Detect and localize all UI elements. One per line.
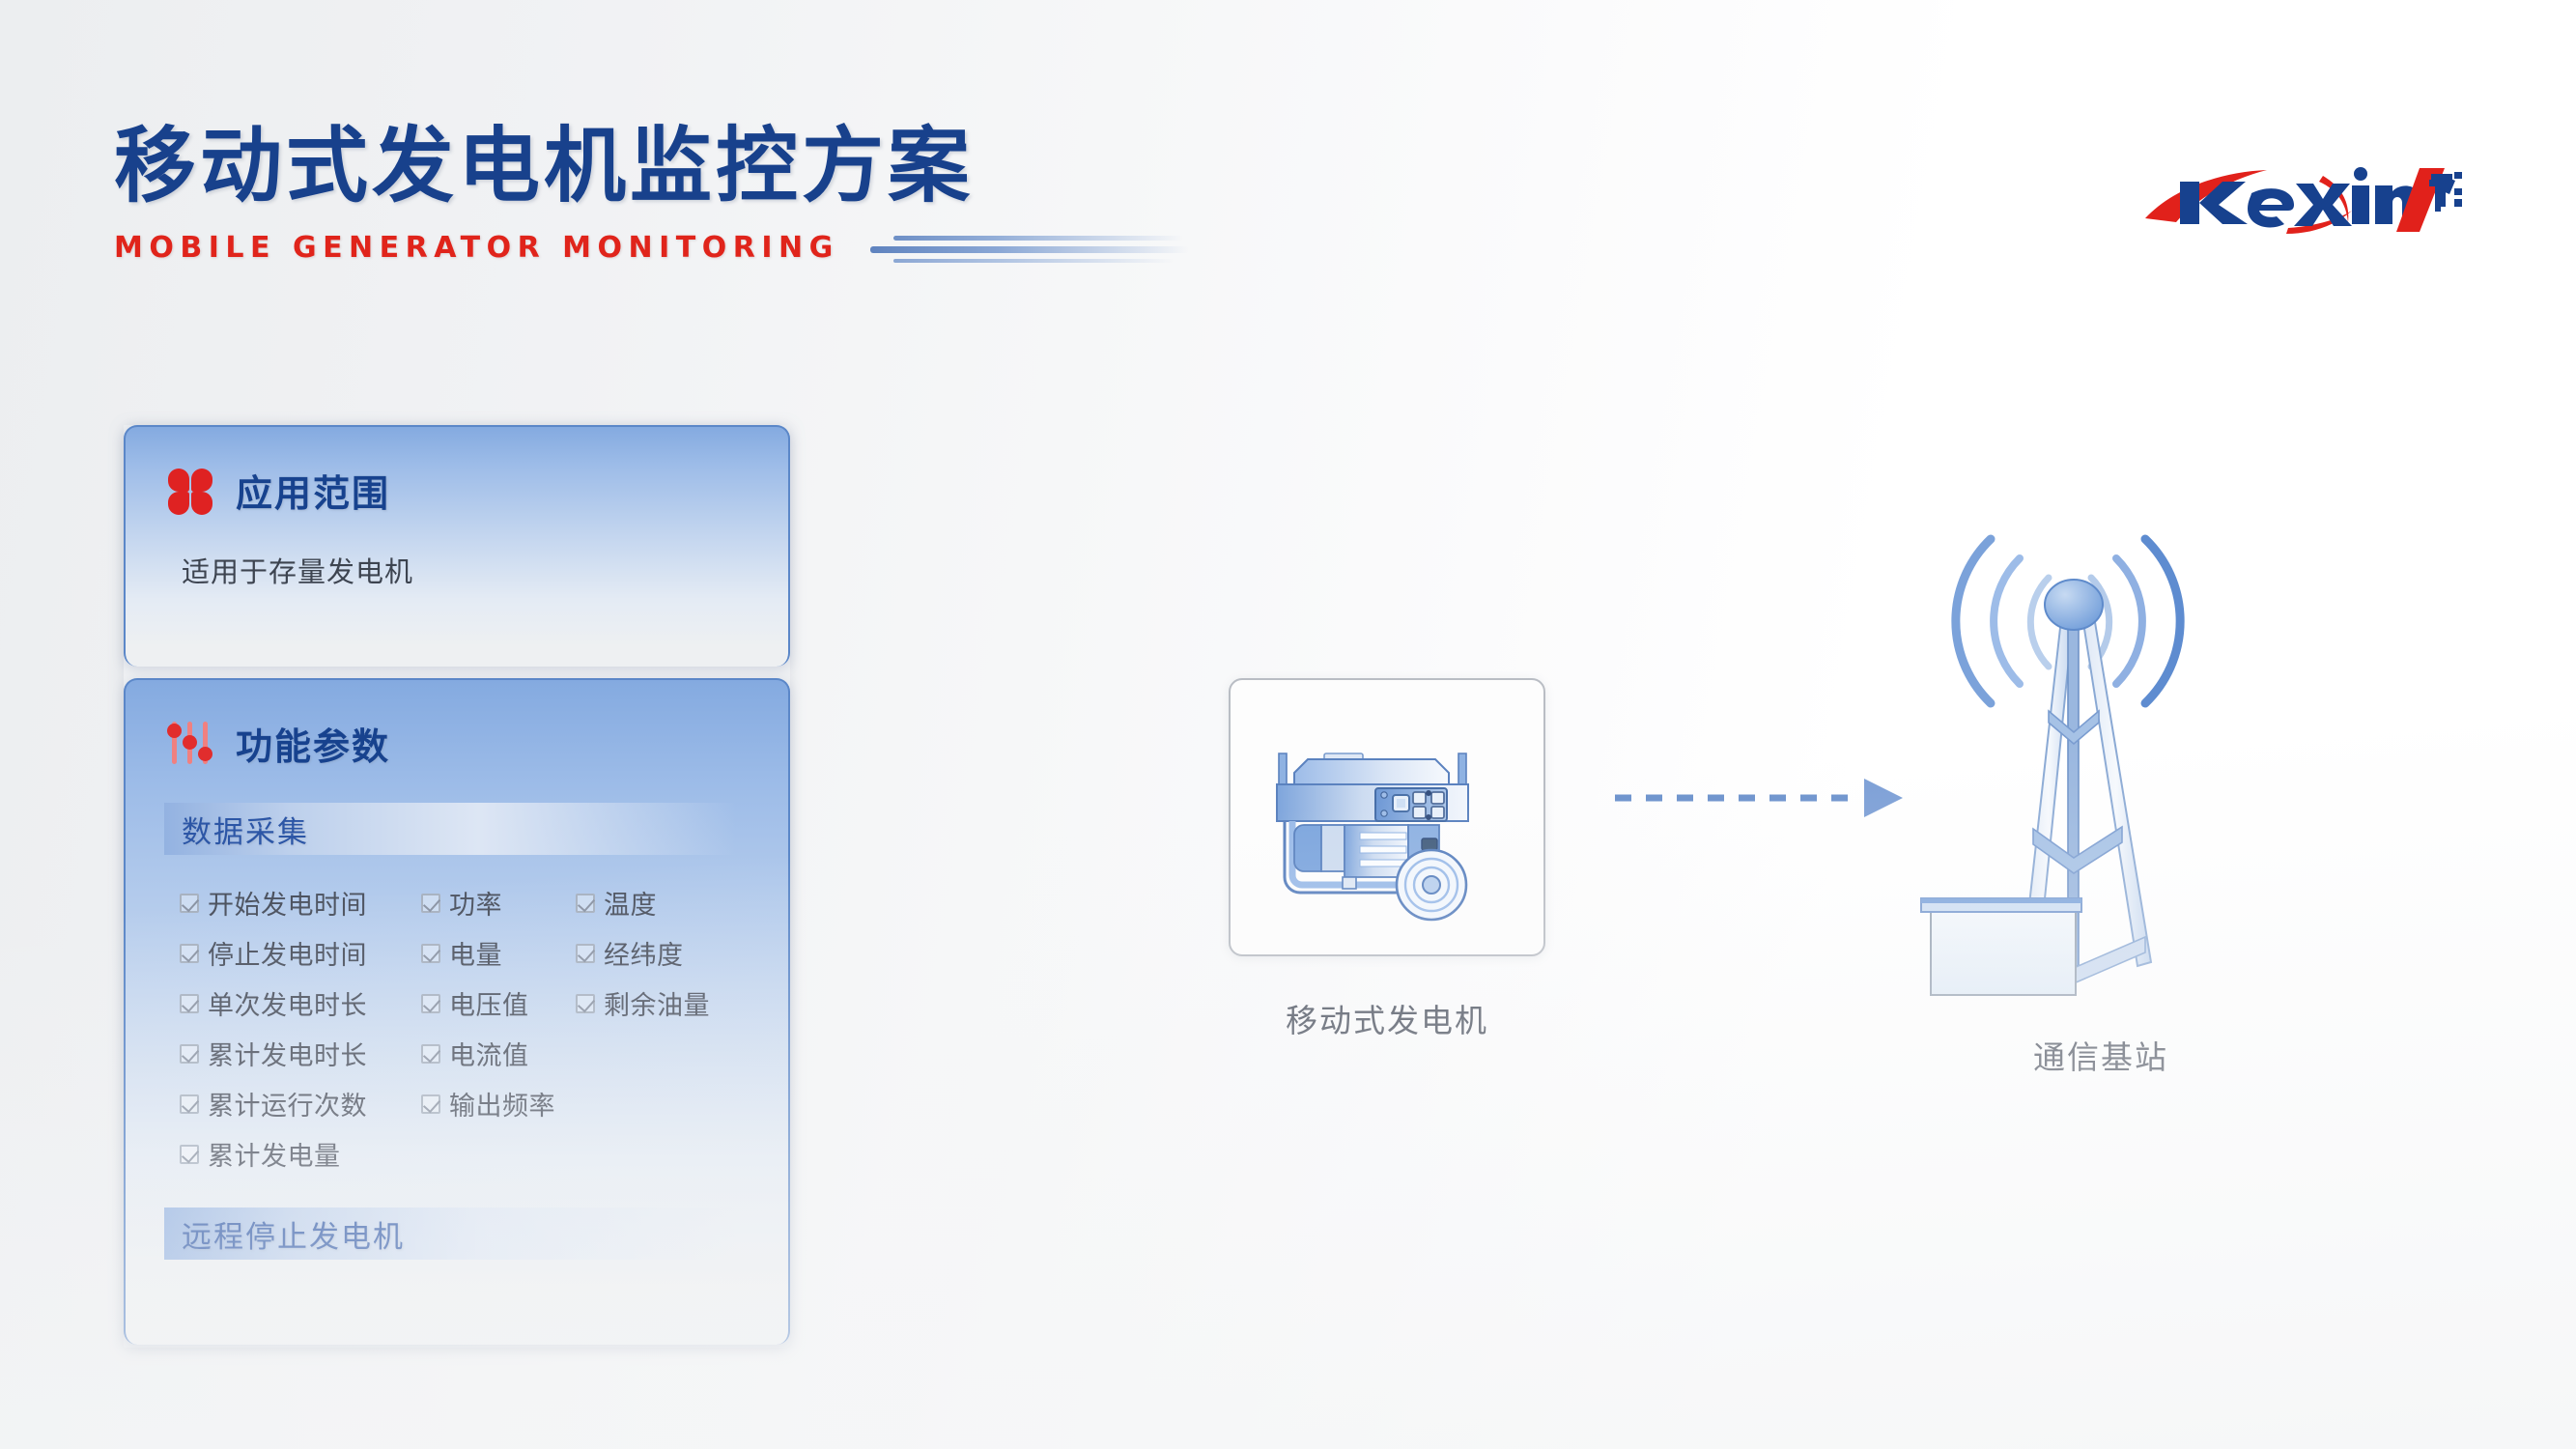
list-item-label: 单次发电时长 xyxy=(208,984,367,1022)
card-function-parameters[interactable]: 功能参数 数据采集 开始发电时间 功率 温度 xyxy=(124,678,790,1345)
page-title: 移动式发电机监控方案 xyxy=(114,124,1199,210)
list-item[interactable]: 温度 xyxy=(576,884,750,922)
base-station-label: 通信基站 xyxy=(1908,1032,2294,1078)
page-subtitle: MOBILE GENERATOR MONITORING xyxy=(114,231,839,265)
mobile-generator-icon xyxy=(1252,703,1528,937)
list-item[interactable]: 停止发电时间 xyxy=(180,934,421,972)
subtitle-row: MOBILE GENERATOR MONITORING xyxy=(114,231,1199,265)
sliders-icon xyxy=(166,720,214,768)
list-item[interactable]: 开始发电时间 xyxy=(180,884,421,922)
list-item-label: 功率 xyxy=(449,884,502,922)
checkbox-checked-icon[interactable] xyxy=(421,944,440,963)
dashed-arrow-right-icon xyxy=(1611,773,1911,823)
list-item-label: 电流值 xyxy=(449,1035,529,1072)
checkbox-checked-icon[interactable] xyxy=(421,1094,440,1114)
list-item[interactable]: 累计发电时长 xyxy=(180,1035,421,1072)
list-item[interactable]: 电量 xyxy=(421,934,576,972)
section-label: 数据采集 xyxy=(182,808,309,851)
list-item-label: 累计发电时长 xyxy=(208,1035,367,1072)
list-item[interactable]: 剩余油量 xyxy=(576,984,750,1022)
list-item-label: 剩余油量 xyxy=(604,984,710,1022)
list-item-label: 输出频率 xyxy=(449,1085,555,1122)
checkbox-checked-icon[interactable] xyxy=(421,894,440,913)
checkbox-checked-icon[interactable] xyxy=(421,994,440,1013)
checkbox-checked-icon[interactable] xyxy=(576,994,595,1013)
checkbox-checked-icon[interactable] xyxy=(180,1094,199,1114)
grid-spacer xyxy=(576,1135,750,1173)
list-item[interactable]: 电流值 xyxy=(421,1035,576,1072)
section-header-remote-stop: 远程停止发电机 xyxy=(164,1207,736,1260)
section-header-data-collection: 数据采集 xyxy=(164,803,736,855)
checkbox-checked-icon[interactable] xyxy=(576,894,595,913)
checkbox-checked-icon[interactable] xyxy=(180,944,199,963)
slide-background: 移动式发电机监控方案 MOBILE GENERATOR MONITORING xyxy=(0,0,2576,1449)
list-item-label: 累计发电量 xyxy=(208,1135,341,1173)
card-header: 功能参数 xyxy=(126,680,788,770)
checkbox-checked-icon[interactable] xyxy=(180,1044,199,1064)
decorative-lines xyxy=(870,232,1199,265)
list-item[interactable]: 功率 xyxy=(421,884,576,922)
list-item[interactable]: 电压值 xyxy=(421,984,576,1022)
card-title: 应用范围 xyxy=(236,464,390,517)
checkbox-checked-icon[interactable] xyxy=(576,944,595,963)
list-item-label: 累计运行次数 xyxy=(208,1085,367,1122)
list-item[interactable]: 单次发电时长 xyxy=(180,984,421,1022)
generator-label: 移动式发电机 xyxy=(1229,995,1545,1041)
list-item-label: 经纬度 xyxy=(604,934,684,972)
card-application-scope[interactable]: 应用范围 适用于存量发电机 xyxy=(124,425,790,667)
card-header: 应用范围 xyxy=(126,427,788,517)
list-item[interactable]: 输出频率 xyxy=(421,1085,576,1122)
grid-spacer xyxy=(576,1085,750,1122)
list-item[interactable]: 累计发电量 xyxy=(180,1135,421,1173)
grid-spacer xyxy=(421,1135,576,1173)
list-item[interactable]: 经纬度 xyxy=(576,934,750,972)
card-body-text: 适用于存量发电机 xyxy=(126,517,788,590)
left-info-panel: 应用范围 适用于存量发电机 功能参数 数据采集 开始发电时间 xyxy=(124,425,790,1348)
list-item-label: 停止发电时间 xyxy=(208,934,367,972)
list-item-label: 开始发电时间 xyxy=(208,884,367,922)
checkbox-checked-icon[interactable] xyxy=(421,1044,440,1064)
kexin-logo xyxy=(2143,155,2462,243)
list-item-label: 电压值 xyxy=(449,984,529,1022)
checkbox-checked-icon[interactable] xyxy=(180,1145,199,1164)
list-item-label: 温度 xyxy=(604,884,657,922)
grid-spacer xyxy=(576,1035,750,1072)
mobile-generator-card xyxy=(1229,678,1545,956)
list-item[interactable]: 累计运行次数 xyxy=(180,1085,421,1122)
checkbox-checked-icon[interactable] xyxy=(180,994,199,1013)
page-header: 移动式发电机监控方案 MOBILE GENERATOR MONITORING xyxy=(114,124,1199,265)
card-title: 功能参数 xyxy=(236,717,390,770)
list-item-label: 电量 xyxy=(449,934,502,972)
flower-icon xyxy=(166,467,214,515)
cell-tower-icon xyxy=(1908,502,2294,1063)
checkbox-checked-icon[interactable] xyxy=(180,894,199,913)
section-label: 远程停止发电机 xyxy=(182,1212,405,1256)
data-collection-checklist: 开始发电时间 功率 温度 停止发电时间 电量 xyxy=(180,884,759,1173)
